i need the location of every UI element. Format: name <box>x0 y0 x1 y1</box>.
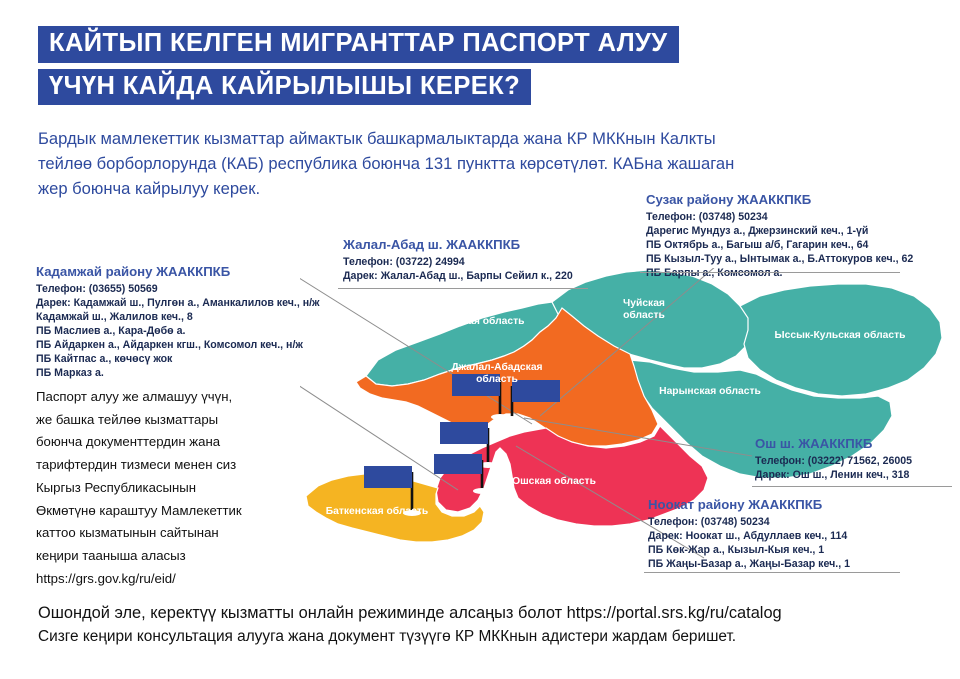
info-block-jalalabad-rule <box>338 288 588 289</box>
infographic-canvas: КАЙТЫП КЕЛГЕН МИГРАНТТАР ПАСПОРТ АЛУУ ҮЧ… <box>0 0 960 679</box>
bottom-line-1[interactable]: Ошондой эле, керектүү кызматты онлайн ре… <box>38 602 898 626</box>
region-issykkul[interactable] <box>740 284 942 396</box>
kyrgyzstan-map: Таласская область Чуйская область Ыссык-… <box>300 268 960 588</box>
left-paragraph: Паспорт алуу же алмашуу үчүн, же башка т… <box>36 386 251 590</box>
info-block-osh-rule <box>752 486 952 487</box>
info-line: Телефон: (03222) 71562, 26005 <box>755 454 912 468</box>
info-line: ПБ Көк-Жар а., Кызыл-Кыя кеч., 1 <box>648 543 850 557</box>
info-block-suzak-title: Сузак району ЖААККПКБ <box>646 192 913 207</box>
info-line: ПБ Айдаркен а., Айдаркен кгш., Комсомол … <box>36 338 320 352</box>
info-line: ПБ Маслиев а., Кара-Дөбө а. <box>36 324 320 338</box>
info-line: Телефон: (03722) 24994 <box>343 255 573 269</box>
page-title: КАЙТЫП КЕЛГЕН МИГРАНТТАР ПАСПОРТ АЛУУ ҮЧ… <box>38 26 679 105</box>
info-line: ПБ Барпы а., Комсомол а. <box>646 266 913 280</box>
intro-paragraph: Бардык мамлекеттик кызматтар аймактык ба… <box>38 126 738 202</box>
bottom-paragraph: Ошондой эле, керектүү кызматты онлайн ре… <box>38 602 898 648</box>
info-block-nookat-rule <box>644 572 900 573</box>
info-block-osh-title: Ош ш. ЖААККПКБ <box>755 436 912 451</box>
info-line: Дарек: Жалал-Абад ш., Барпы Сейил к., 22… <box>343 269 573 283</box>
info-block-nookat: Ноокат району ЖААККПКБ Телефон: (03748) … <box>648 497 850 571</box>
info-line: ПБ Марказ а. <box>36 366 320 380</box>
info-line: Телефон: (03748) 50234 <box>646 210 913 224</box>
info-line: Дарек: Кадамжай ш., Пулгөн а., Аманкалил… <box>36 296 320 310</box>
info-block-kadamjay-title: Кадамжай району ЖААККПКБ <box>36 264 320 279</box>
page-title-line-2: ҮЧҮН КАЙДА КАЙРЫЛЫШЫ КЕРЕК? <box>38 69 531 106</box>
info-line: Дарегис Мундуз а., Джерзинский кеч., 1-ү… <box>646 224 913 238</box>
info-line: ПБ Кайтпас а., көчөсү жок <box>36 352 320 366</box>
info-block-suzak: Сузак району ЖААККПКБ Телефон: (03748) 5… <box>646 192 913 280</box>
grs-link[interactable]: https://grs.gov.kg/ru/eid/ <box>36 568 251 591</box>
info-block-jalalabad: Жалал-Абад ш. ЖААККПКБ Телефон: (03722) … <box>343 237 573 283</box>
info-line: ПБ Октябрь а., Багыш а/б, Гагарин кеч., … <box>646 238 913 252</box>
page-title-line-1: КАЙТЫП КЕЛГЕН МИГРАНТТАР ПАСПОРТ АЛУУ <box>38 26 679 63</box>
info-block-nookat-title: Ноокат району ЖААККПКБ <box>648 497 850 512</box>
info-block-jalalabad-title: Жалал-Абад ш. ЖААККПКБ <box>343 237 573 252</box>
info-line: Телефон: (03655) 50569 <box>36 282 320 296</box>
info-line: ПБ Кызыл-Туу а., Ынтымак а., Б.Аттокуров… <box>646 252 913 266</box>
bottom-line-2: Сизге кеңири консультация алууга жана до… <box>38 626 898 648</box>
info-line: Дарек: Ош ш., Ленин кеч., 318 <box>755 468 912 482</box>
info-block-kadamjay: Кадамжай району ЖААККПКБ Телефон: (03655… <box>36 264 320 381</box>
info-line: Кадамжай ш., Жалилов кеч., 8 <box>36 310 320 324</box>
info-block-suzak-rule <box>640 272 900 273</box>
info-line: ПБ Жаңы-Базар а., Жаңы-Базар кеч., 1 <box>648 557 850 571</box>
map-svg <box>300 268 960 588</box>
left-paragraph-text: Паспорт алуу же алмашуу үчүн, же башка т… <box>36 389 242 563</box>
info-line: Телефон: (03748) 50234 <box>648 515 850 529</box>
info-line: Дарек: Ноокат ш., Абдуллаев кеч., 114 <box>648 529 850 543</box>
info-block-osh: Ош ш. ЖААККПКБ Телефон: (03222) 71562, 2… <box>755 436 912 482</box>
